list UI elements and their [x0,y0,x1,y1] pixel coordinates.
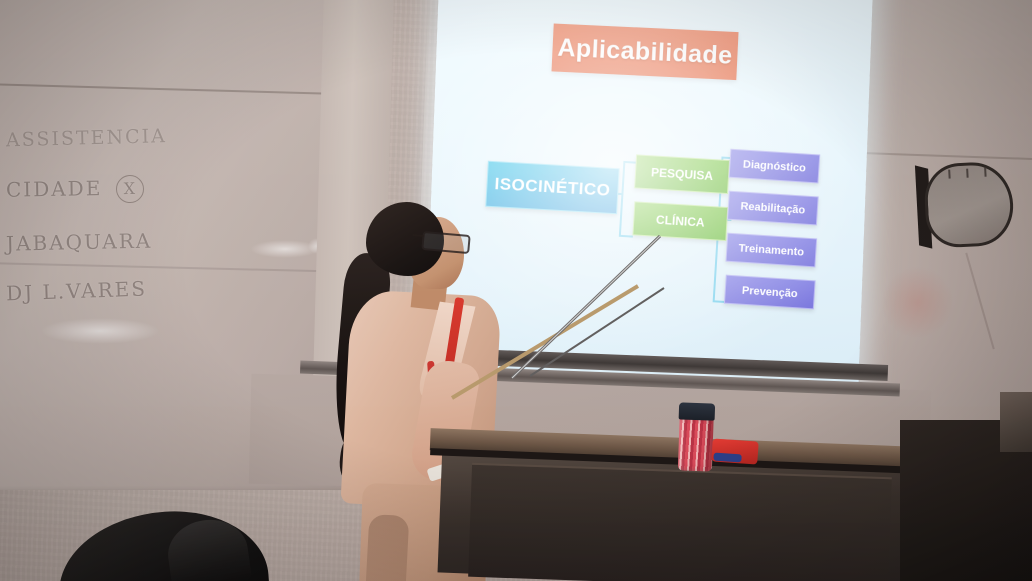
handwriting-line-2: CIDADEX [6,173,260,205]
wall-mounted-speaker-box [915,161,1009,248]
diagram-node-diagnostico: Diagnóstico [729,149,821,184]
travel-mug-body [678,416,714,471]
whiteboard-handwriting: ASSISTENCIA CIDADEX JABAQUARA DJ L.VARES [0,128,260,327]
handwriting-circled-mark: X [116,175,144,203]
diagram-node-treinamento: Treinamento [725,233,817,268]
handwriting-line-4: DJ L.VARES [6,275,261,304]
diagram-node-prevencao: Prevenção [724,275,816,310]
handwriting-line-1: ASSISTENCIA [6,125,260,151]
handwriting-text: CIDADE [6,176,103,202]
diagram-node-clinica: CLÍNICA [632,201,728,241]
podium-front-panel [468,463,892,581]
travel-mug-lid [679,402,716,420]
handwriting-line-3: JABAQUARA [6,228,260,253]
presenter-trousers-shadow [363,514,410,581]
diagram-node-reabilitacao: Reabilitação [727,191,819,226]
wall-box-clip [984,168,986,177]
diagram-node-pesquisa: PESQUISA [634,154,730,194]
wall-box-clip [948,170,950,179]
wall-box-face [923,160,1015,248]
red-case-object [711,438,758,464]
right-wall-stain [880,265,955,340]
right-furniture-edge [1000,392,1032,452]
photo-scene: ASSISTENCIA CIDADEX JABAQUARA DJ L.VARES… [0,0,1032,581]
travel-mug [678,402,714,471]
glasses-icon [421,231,470,254]
wall-box-clip [966,169,968,178]
